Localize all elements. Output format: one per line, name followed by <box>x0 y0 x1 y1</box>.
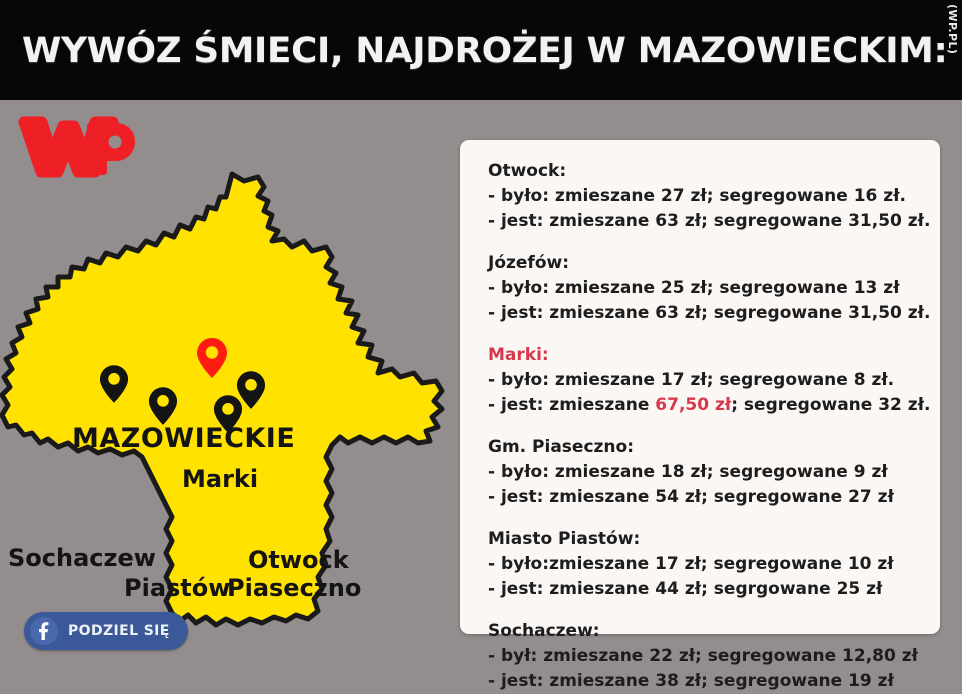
price-entry-line-before: - było: zmieszane 25 zł; segregowane 13 … <box>488 276 920 301</box>
price-list-panel: Otwock: - było: zmieszane 27 zł; segrego… <box>460 140 940 634</box>
price-entry-sochaczew: Sochaczew: - był: zmieszane 22 zł; segre… <box>488 619 920 694</box>
price-entry-line-now: - jest: zmieszane 44 zł; segrgowane 25 z… <box>488 577 920 602</box>
price-entry-line-now: - jest: zmieszane 63 zł; segregowane 31,… <box>488 301 920 326</box>
price-entry-line-now: - jest: zmieszane 63 zł; segregowane 31,… <box>488 209 920 234</box>
facebook-f-glyph <box>35 622 53 640</box>
highlighted-price: 67,50 zł <box>655 395 731 415</box>
map-container: MAZOWIECKIE Marki Sochaczew Piastów Pias… <box>0 155 456 655</box>
price-entry-line-now: - jest: zmieszane 38 zł; segregowane 19 … <box>488 669 920 694</box>
price-entry-miasto-piastow: Miasto Piastów: - było:zmieszane 17 zł; … <box>488 527 920 602</box>
map-marker-label-marki: Marki <box>182 465 258 493</box>
price-entry-title: Sochaczew: <box>488 619 920 644</box>
map-pin-piastow[interactable] <box>148 386 178 430</box>
price-entry-line-now: - jest: zmieszane 54 zł; segregowane 27 … <box>488 485 920 510</box>
share-button-label: PODZIEL SIĘ <box>68 623 170 639</box>
price-entry-line-before: - było: zmieszane 18 zł; segregowane 9 z… <box>488 460 920 485</box>
price-entry-otwock: Otwock: - było: zmieszane 27 zł; segrego… <box>488 159 920 234</box>
price-entry-line-now: - jest: zmieszane 67,50 zł; segregowane … <box>488 393 920 418</box>
map-marker-label-piaseczno: Piaseczno <box>227 574 361 602</box>
price-entry-line-before: - było: zmieszane 27 zł; segregowane 16 … <box>488 184 920 209</box>
price-entry-line-before: - było: zmieszane 17 zł; segregowane 8 z… <box>488 368 920 393</box>
map-pin-marki[interactable] <box>196 337 228 383</box>
map-marker-label-otwock: Otwock <box>248 546 349 574</box>
location-pin-icon <box>99 364 129 404</box>
price-entry-jozefow: Józefów: - było: zmieszane 25 zł; segreg… <box>488 251 920 326</box>
map-region-label: MAZOWIECKIE <box>72 423 295 454</box>
price-entry-title: Gm. Piaseczno: <box>488 435 920 460</box>
location-pin-icon <box>213 394 243 434</box>
page-title: WYWÓZ ŚMIECI, NAJDROŻEJ W MAZOWIECKIM: <box>22 27 930 75</box>
price-entry-line-before: - był: zmieszane 22 zł; segregowane 12,8… <box>488 644 920 669</box>
facebook-icon <box>30 617 58 645</box>
price-entry-gm-piaseczno: Gm. Piaseczno: - było: zmieszane 18 zł; … <box>488 435 920 510</box>
price-entry-title: Marki: <box>488 343 920 368</box>
source-attribution: (WP.PL) <box>946 4 959 76</box>
map-pin-sochaczew[interactable] <box>99 364 129 408</box>
location-pin-icon <box>148 386 178 426</box>
price-entry-marki: Marki: - było: zmieszane 17 zł; segregow… <box>488 343 920 418</box>
map-marker-label-sochaczew: Sochaczew <box>8 544 156 572</box>
price-entry-line-before: - było:zmieszane 17 zł; segregowane 10 z… <box>488 552 920 577</box>
share-button[interactable]: PODZIEL SIĘ <box>24 612 188 650</box>
price-entry-title: Otwock: <box>488 159 920 184</box>
map-marker-label-piastow: Piastów <box>124 574 230 602</box>
line-prefix: - jest: zmieszane <box>488 395 655 415</box>
location-pin-icon <box>196 337 228 379</box>
price-entry-title: Józefów: <box>488 251 920 276</box>
map-pin-piaseczno[interactable] <box>213 394 243 438</box>
line-suffix: ; segregowane 32 zł. <box>731 395 930 415</box>
price-entry-title: Miasto Piastów: <box>488 527 920 552</box>
